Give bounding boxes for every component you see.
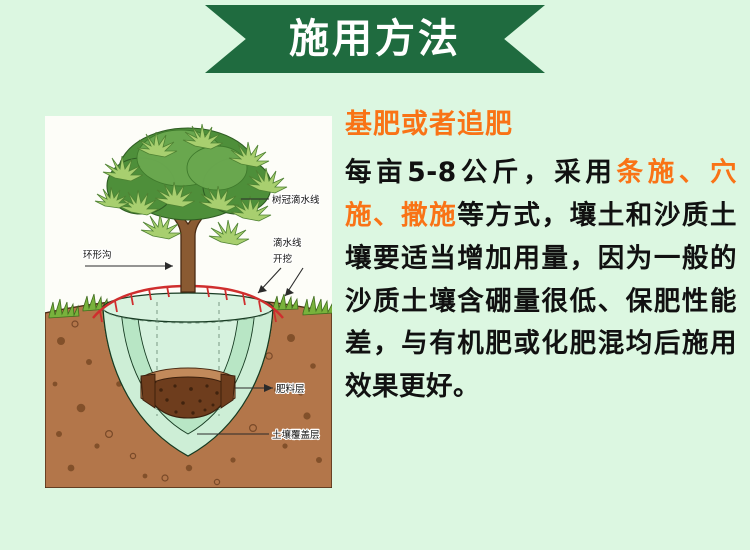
- label-ring-trench: 环形沟: [83, 249, 112, 261]
- page-title: 施用方法: [289, 19, 461, 59]
- fertilizing-diagram: 树冠滴水线 环形沟 滴水线 开挖 肥料层 土壤覆盖层: [45, 116, 332, 488]
- diagram-svg: 树冠滴水线 环形沟 滴水线 开挖 肥料层 土壤覆盖层: [45, 116, 332, 488]
- copy-heading: 基肥或者追肥: [345, 108, 737, 142]
- copy-segment-0: 每亩5-8公斤，采用: [345, 157, 617, 188]
- instruction-copy: 基肥或者追肥 每亩5-8公斤，采用条施、穴施、撒施等方式，壤土和沙质土壤要适当增…: [345, 108, 737, 409]
- label-soil-cover-layer: 土壤覆盖层: [272, 429, 320, 441]
- label-dripline-dig-line2: 开挖: [273, 253, 293, 265]
- copy-body: 每亩5-8公斤，采用条施、穴施、撒施等方式，壤土和沙质土壤要适当增加用量，因为一…: [345, 152, 737, 410]
- label-fertilizer-layer: 肥料层: [276, 383, 305, 395]
- title-banner: 施用方法: [205, 5, 545, 73]
- label-canopy-dripline: 树冠滴水线: [272, 194, 320, 206]
- label-dripline-dig-line1: 滴水线: [273, 237, 302, 249]
